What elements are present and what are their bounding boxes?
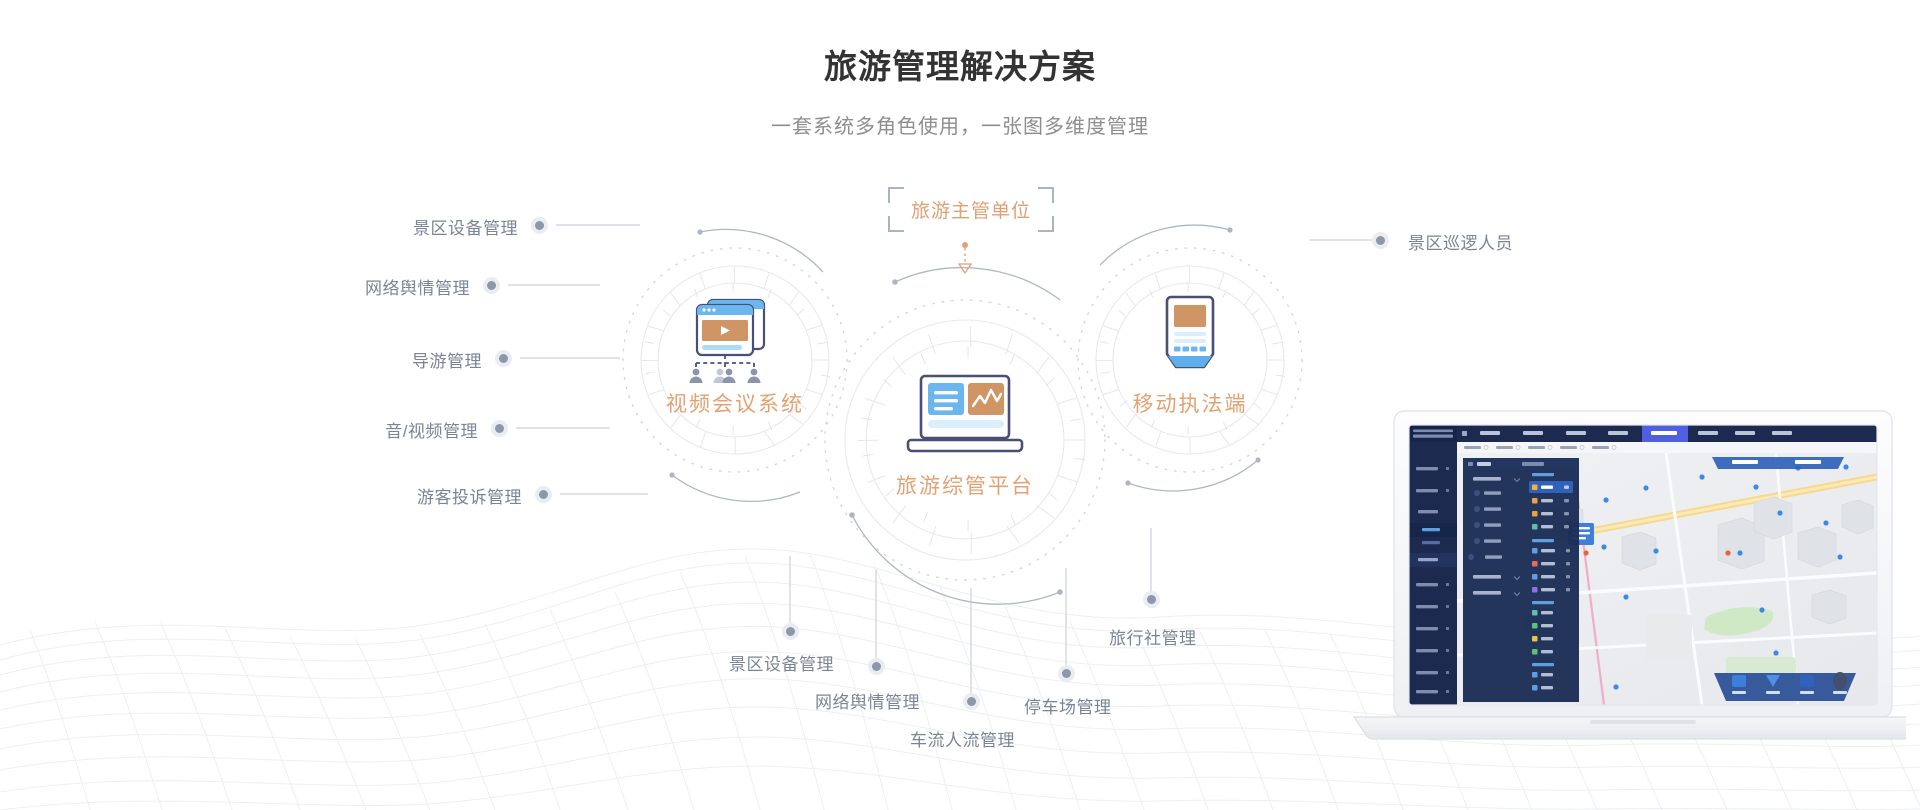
- left-node-dot-4[interactable]: [491, 420, 508, 437]
- right-node-label-1[interactable]: 景区巡逻人员: [1408, 229, 1513, 254]
- bottom-node-dot-3[interactable]: [963, 693, 980, 710]
- left-connector-lines: [508, 225, 648, 494]
- video-conference-icon: [676, 293, 794, 383]
- authority-box[interactable]: 旅游主管单位: [888, 187, 1054, 232]
- left-node-label-5[interactable]: 游客投诉管理: [417, 483, 522, 508]
- laptop-mockup: [1346, 405, 1906, 780]
- page-title: 旅游管理解决方案: [0, 40, 1920, 88]
- authority-label: 旅游主管单位: [911, 196, 1031, 223]
- bottom-node-dot-4[interactable]: [1058, 665, 1075, 682]
- corner-bracket-top-left: [888, 187, 904, 203]
- platform-title: 旅游综管平台: [896, 470, 1034, 500]
- bottom-node-label-3[interactable]: 车流人流管理: [910, 726, 1015, 751]
- bottom-node-label-1[interactable]: 景区设备管理: [729, 650, 834, 675]
- left-node-dot-5[interactable]: [535, 486, 552, 503]
- bottom-node-dot-1[interactable]: [782, 623, 799, 640]
- corner-bracket-top-right: [1038, 187, 1054, 203]
- dashboard-screen: [1409, 425, 1877, 705]
- right-node-dot-1[interactable]: [1372, 232, 1389, 249]
- corner-bracket-bottom-right: [1038, 216, 1054, 232]
- left-node-label-2[interactable]: 网络舆情管理: [365, 274, 470, 299]
- handheld-terminal-icon: [1157, 295, 1223, 381]
- corner-bracket-bottom-left: [888, 216, 904, 232]
- bottom-connector-lines: [790, 528, 1151, 700]
- page-subtitle: 一套系统多角色使用，一张图多维度管理: [0, 110, 1920, 139]
- left-node-dot-2[interactable]: [483, 277, 500, 294]
- video-conference-title: 视频会议系统: [666, 388, 804, 418]
- bottom-node-dot-5[interactable]: [1143, 591, 1160, 608]
- bottom-node-label-2[interactable]: 网络舆情管理: [815, 688, 920, 713]
- left-node-dot-3[interactable]: [495, 350, 512, 367]
- left-node-dot-1[interactable]: [531, 217, 548, 234]
- left-node-label-4[interactable]: 音/视频管理: [385, 417, 478, 442]
- left-node-label-3[interactable]: 导游管理: [412, 347, 482, 372]
- solution-diagram-page: 旅游管理解决方案 一套系统多角色使用，一张图多维度管理: [0, 0, 1920, 810]
- bottom-node-label-4[interactable]: 停车场管理: [1024, 693, 1112, 718]
- laptop-dashboard-icon: [899, 372, 1031, 462]
- bottom-node-dot-2[interactable]: [868, 658, 885, 675]
- bottom-node-label-5[interactable]: 旅行社管理: [1109, 624, 1197, 649]
- left-node-label-1[interactable]: 景区设备管理: [413, 214, 518, 239]
- mobile-enforcement-title: 移动执法端: [1133, 388, 1248, 418]
